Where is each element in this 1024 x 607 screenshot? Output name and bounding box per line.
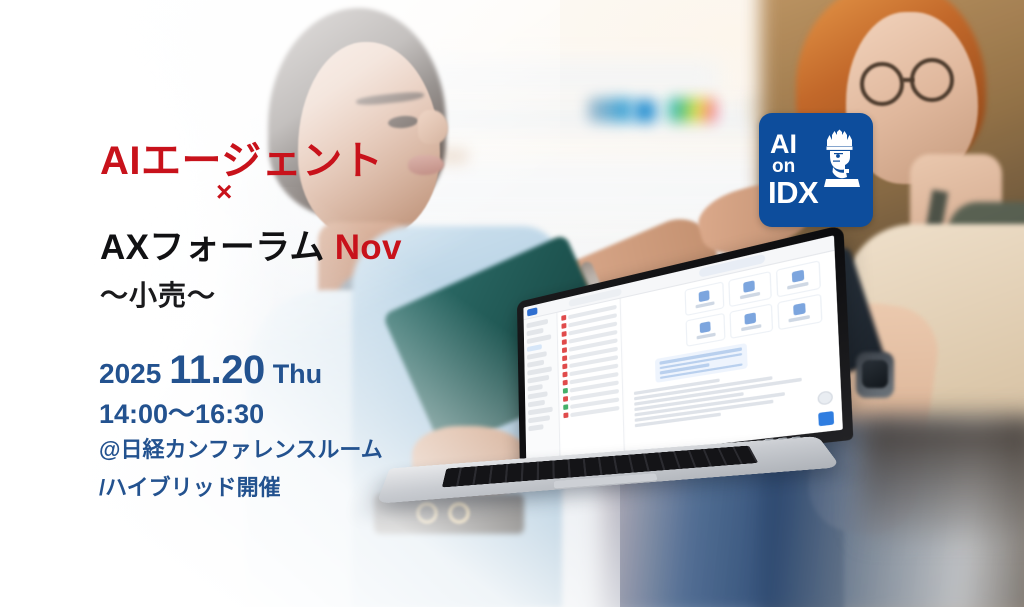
feature-card-label bbox=[696, 333, 715, 339]
headline-secondary-black: AXフォーラム bbox=[100, 228, 325, 267]
app-list-column bbox=[558, 299, 625, 462]
sidebar-item bbox=[527, 375, 549, 384]
status-dot bbox=[563, 404, 568, 410]
feature-icon bbox=[700, 321, 711, 333]
banner-copy: AIエージェント × AXフォーラム Nov 〜小売〜 2025 11.20 T… bbox=[0, 0, 470, 607]
status-dot bbox=[562, 347, 567, 353]
feature-card-label bbox=[789, 315, 811, 322]
event-banner: AIエージェント × AXフォーラム Nov 〜小売〜 2025 11.20 T… bbox=[0, 0, 1024, 607]
feature-card bbox=[729, 271, 772, 307]
feature-card-label bbox=[695, 302, 714, 309]
port bbox=[778, 437, 788, 439]
status-dot bbox=[561, 315, 566, 321]
cross-symbol: × bbox=[216, 178, 232, 206]
blurred-signage bbox=[634, 100, 656, 122]
event-time: 14:00〜16:30 bbox=[99, 392, 264, 431]
smartwatch-face bbox=[862, 360, 888, 388]
crowned-king-head-icon bbox=[820, 129, 866, 187]
event-date: 2025 11.20 Thu bbox=[99, 348, 322, 393]
logo-line-on: on bbox=[772, 157, 795, 176]
status-dot bbox=[562, 331, 567, 337]
status-dot bbox=[561, 323, 566, 329]
status-dot bbox=[562, 339, 567, 345]
status-dot bbox=[563, 372, 568, 378]
event-year: 2025 bbox=[99, 358, 161, 390]
logo-line-ai: AI bbox=[770, 131, 797, 158]
feature-icon bbox=[793, 303, 805, 316]
sidebar-item bbox=[527, 334, 552, 344]
logo-line-idx: IDX bbox=[768, 177, 818, 208]
feature-card bbox=[730, 303, 773, 338]
feature-card bbox=[775, 260, 821, 298]
sidebar-item bbox=[526, 319, 548, 329]
sidebar-item bbox=[528, 400, 545, 408]
status-dot bbox=[563, 388, 568, 394]
sidebar-item bbox=[528, 407, 553, 416]
feature-card-label bbox=[788, 282, 809, 289]
status-dot bbox=[563, 396, 568, 402]
sidebar-item bbox=[528, 391, 548, 399]
feature-card bbox=[686, 313, 726, 347]
feature-card bbox=[777, 294, 823, 331]
sidebar-item-active bbox=[527, 344, 542, 352]
ai-on-idx-logo[interactable]: AI on IDX bbox=[759, 113, 873, 227]
port bbox=[764, 438, 774, 440]
feature-card-label bbox=[740, 292, 760, 299]
sidebar-item bbox=[528, 384, 543, 391]
feature-icon bbox=[792, 270, 804, 283]
sidebar-item bbox=[527, 351, 547, 360]
eyeglasses-icon bbox=[910, 58, 954, 102]
headline-secondary: AXフォーラム Nov bbox=[100, 219, 402, 270]
eyeglasses-icon bbox=[860, 62, 904, 106]
app-sidebar bbox=[524, 313, 561, 466]
event-format: /ハイブリッド開催 bbox=[99, 470, 281, 502]
app-logo-icon bbox=[527, 307, 537, 316]
sidebar-item bbox=[527, 360, 544, 368]
feature-card bbox=[685, 281, 725, 316]
event-venue: @日経カンファレンスルーム bbox=[99, 432, 383, 464]
blurred-counter-shadow bbox=[860, 418, 1024, 538]
feature-icon bbox=[699, 290, 710, 302]
feature-card-label bbox=[741, 324, 761, 331]
eyeglass-bridge bbox=[902, 78, 914, 82]
sidebar-item bbox=[528, 424, 543, 431]
feature-icon bbox=[744, 280, 756, 293]
headline-secondary-red: Nov bbox=[335, 228, 402, 267]
headline-primary: AIエージェント bbox=[100, 128, 383, 186]
event-monthday: 11.20 bbox=[169, 348, 264, 393]
status-dot bbox=[562, 355, 567, 361]
logo-inner: AI on IDX bbox=[768, 129, 864, 211]
sidebar-item bbox=[528, 415, 550, 423]
feature-icon bbox=[745, 313, 757, 325]
blurred-signage bbox=[668, 98, 716, 122]
headline-subtitle: 〜小売〜 bbox=[100, 274, 216, 314]
status-dot bbox=[562, 363, 567, 369]
event-dayofweek: Thu bbox=[273, 359, 322, 390]
status-dot bbox=[563, 412, 568, 418]
sidebar-item bbox=[527, 328, 544, 336]
status-dot bbox=[563, 380, 568, 386]
port bbox=[791, 436, 801, 438]
send-button-icon bbox=[818, 411, 834, 426]
help-fab-icon bbox=[817, 390, 833, 405]
